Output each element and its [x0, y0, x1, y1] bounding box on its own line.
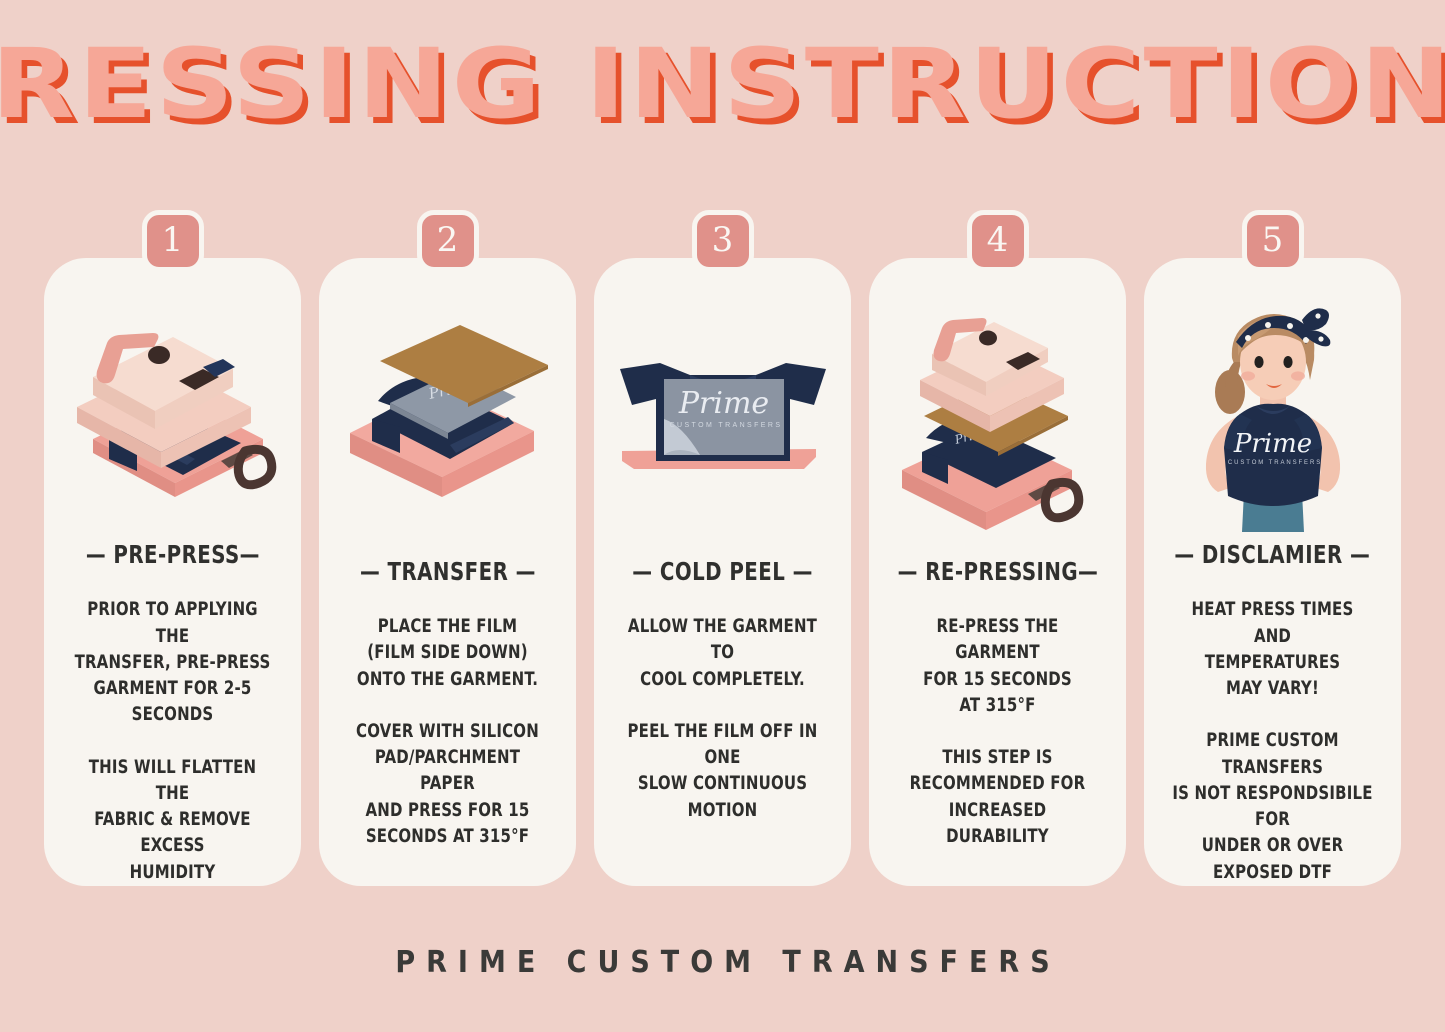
step-paragraph-2-2: COVER WITH SILICON PAD/PARCHMENT PAPER A… [346, 719, 549, 850]
page-title: PRESSING INSTRUCTIONS PRESSING INSTRUCTI… [0, 36, 1445, 132]
svg-text:Prime: Prime [1232, 429, 1311, 459]
heat-press-closed-illustration [44, 292, 301, 540]
step-paragraph-5-1: HEAT PRESS TIMES AND TEMPERATURES MAY VA… [1171, 597, 1374, 702]
step-paragraph-4-2: THIS STEP IS RECOMMENDED FOR INCREASED D… [896, 745, 1099, 850]
step-title-3: — COLD PEEL — [632, 557, 813, 586]
exploded-heat-press-illustration: Pri [869, 292, 1126, 557]
step-paragraph-3-1: ALLOW THE GARMENT TO COOL COMPLETELY. [621, 614, 824, 693]
woman-wearing-tshirt-illustration: Prime CUSTOM TRANSFERS [1144, 292, 1401, 540]
step-badge-5: 5 [1242, 210, 1304, 272]
step-paragraph-1-2: THIS WILL FLATTEN THE FABRIC & REMOVE EX… [71, 755, 274, 886]
footer-brand: PRIME CUSTOM TRANSFERS [0, 945, 1445, 980]
page-header: PRESSING INSTRUCTIONS PRESSING INSTRUCTI… [0, 36, 1445, 156]
step-title-5: — DISCLAMIER — [1175, 540, 1371, 569]
step-badge-1: 1 [142, 210, 204, 272]
step-card-2[interactable]: 2 Prime — TRANSFER — [319, 258, 576, 886]
step-title-2: — TRANSFER — [360, 557, 536, 586]
step-card-5[interactable]: 5 [1144, 258, 1401, 886]
steps-container: 1 [44, 258, 1401, 886]
step-badge-2: 2 [417, 210, 479, 272]
step-card-4[interactable]: 4 Pri [869, 258, 1126, 886]
film-and-parchment-illustration: Prime [319, 292, 576, 557]
step-paragraph-5-2: PRIME CUSTOM TRANSFERS IS NOT RESPONDSIB… [1171, 728, 1374, 886]
step-paragraph-2-1: PLACE THE FILM (FILM SIDE DOWN) ONTO THE… [346, 614, 549, 693]
step-paragraph-3-2: PEEL THE FILM OFF IN ONE SLOW CONTINUOUS… [621, 719, 824, 824]
svg-text:CUSTOM TRANSFERS: CUSTOM TRANSFERS [669, 422, 782, 429]
step-badge-3: 3 [692, 210, 754, 272]
step-title-1: — PRE-PRESS— [85, 540, 259, 569]
step-badge-4: 4 [967, 210, 1029, 272]
page-title-front: PRESSING INSTRUCTIONS [0, 28, 1445, 140]
tshirt-peel-film-illustration: Prime CUSTOM TRANSFERS [594, 292, 851, 557]
svg-text:CUSTOM TRANSFERS: CUSTOM TRANSFERS [1227, 460, 1321, 466]
step-card-3[interactable]: 3 Prime CUSTOM TRANSFERS — COLD PEEL — A… [594, 258, 851, 886]
step-paragraph-1-1: PRIOR TO APPLYING THE TRANSFER, PRE-PRES… [71, 597, 274, 728]
svg-text:Prime: Prime [677, 386, 768, 421]
step-title-4: — RE-PRESSING— [897, 557, 1098, 586]
step-card-1[interactable]: 1 [44, 258, 301, 886]
step-paragraph-4-1: RE-PRESS THE GARMENT FOR 15 SECONDS AT 3… [896, 614, 1099, 719]
